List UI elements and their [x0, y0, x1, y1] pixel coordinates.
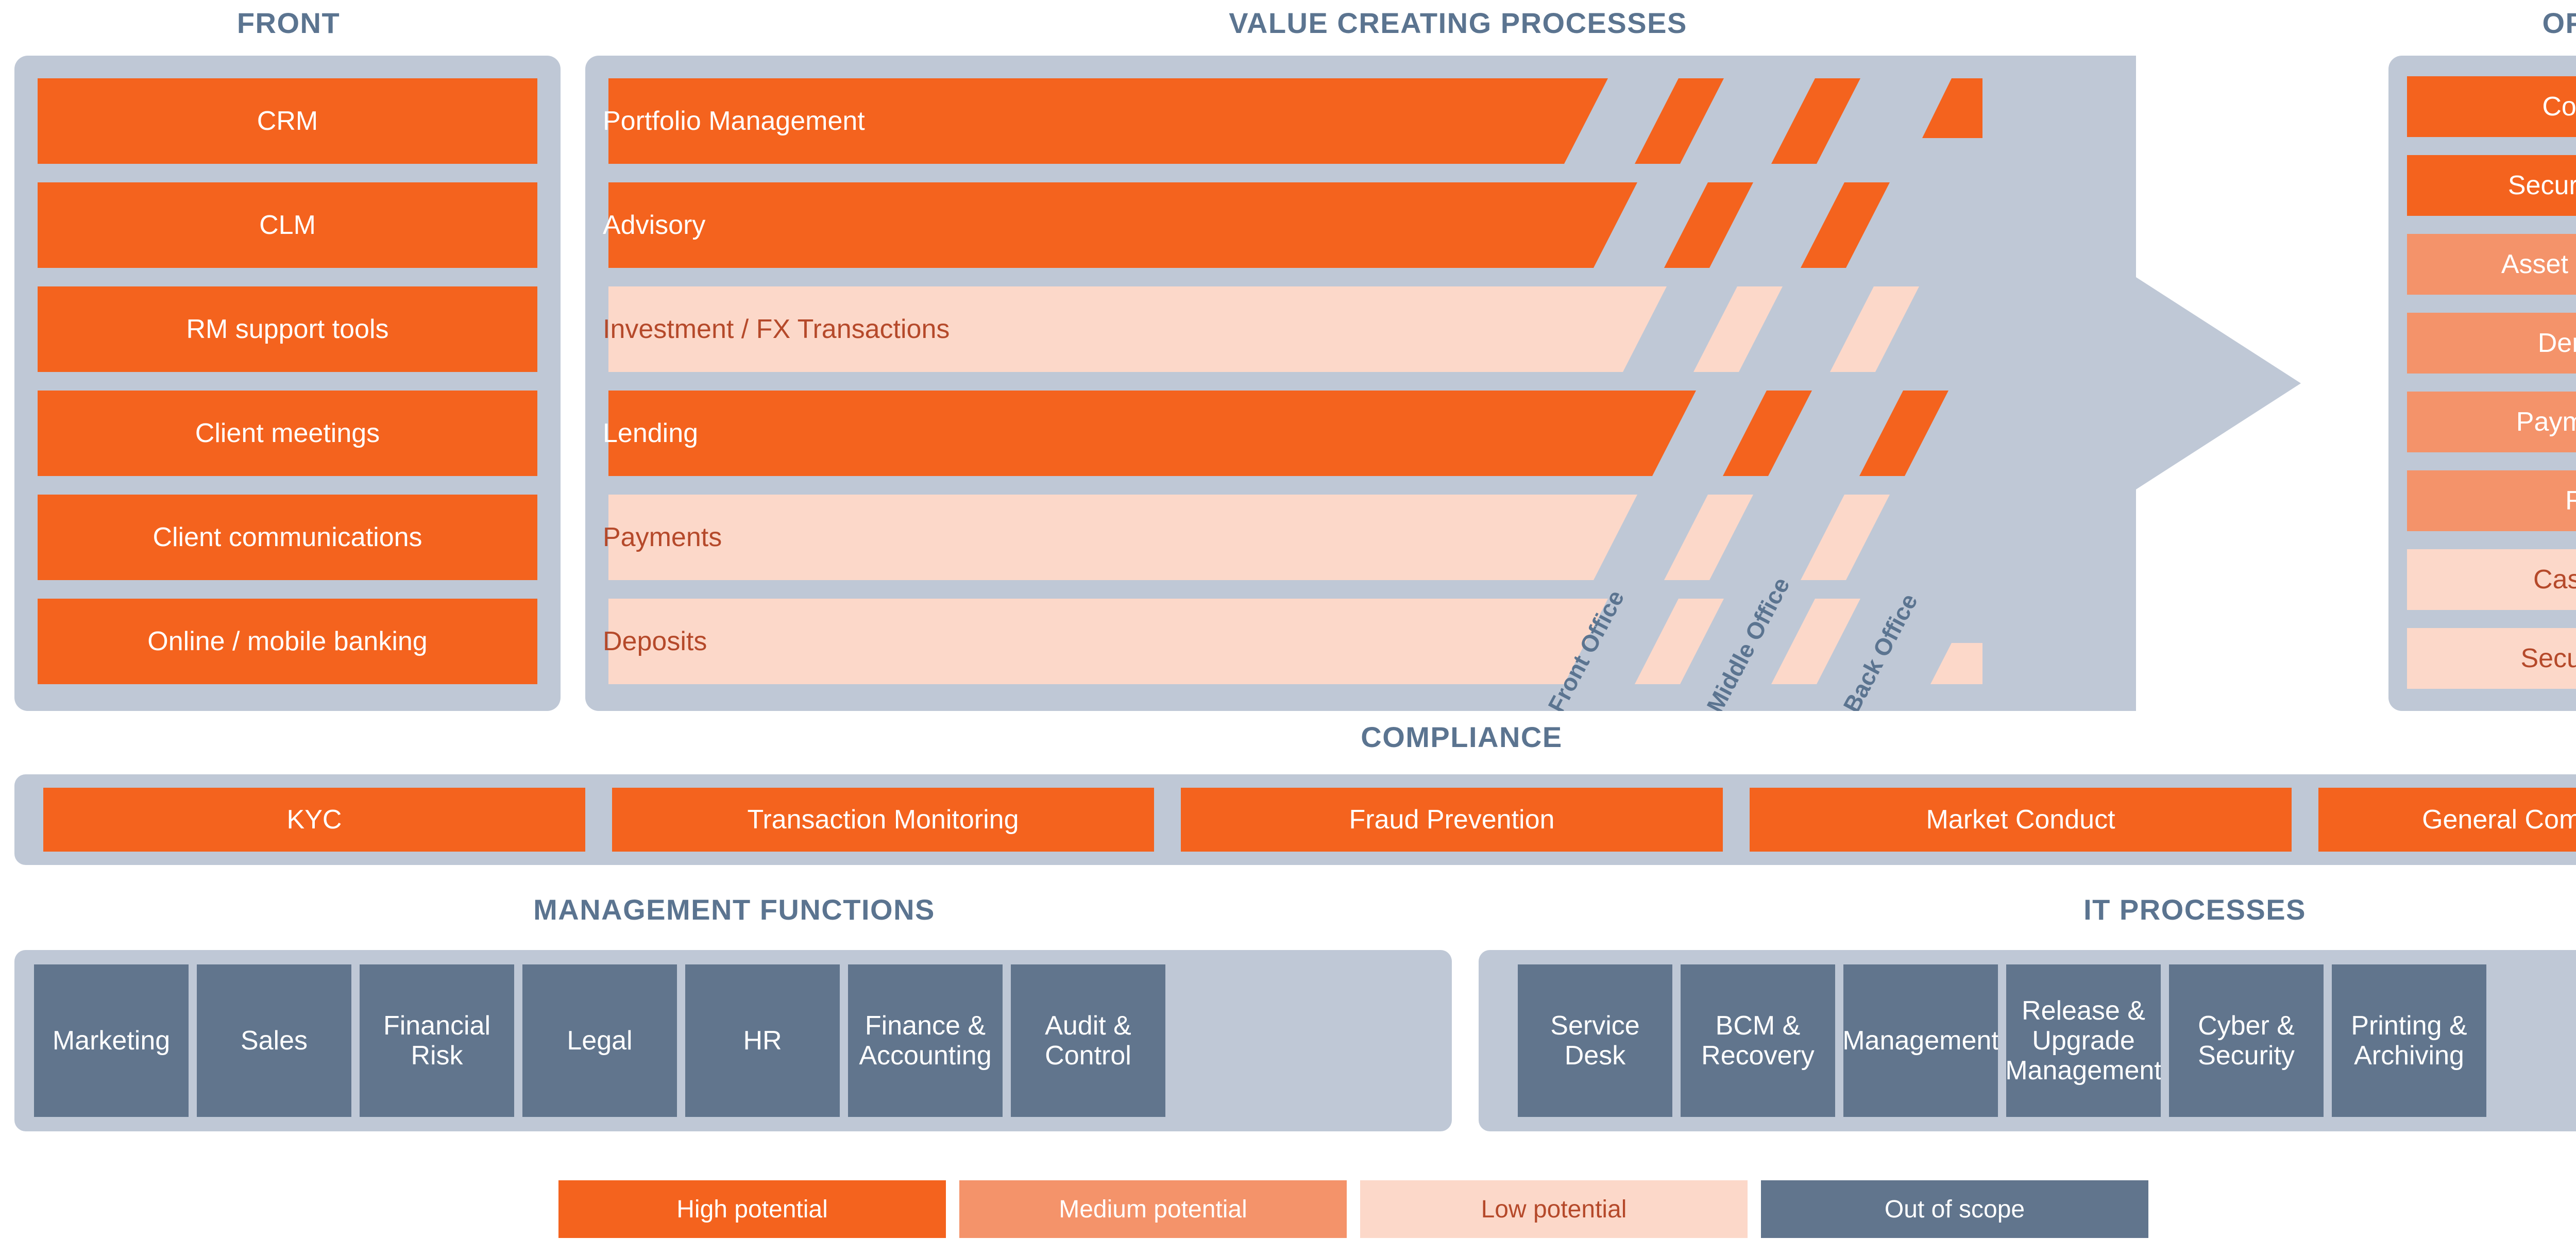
operations-tile-label: Derivatives & OTC — [2538, 328, 2576, 358]
management-functions-heading: MANAGEMENT FUNCTIONS — [15, 894, 1453, 926]
vcp-heading: VALUE CREATING PROCESSES — [587, 7, 2329, 39]
legend-item-label: Out of scope — [1885, 1195, 2025, 1224]
operations-tile-label: Corporate Actions — [2542, 92, 2576, 122]
operations-tile-label: Asset Data Management — [2501, 249, 2576, 279]
front-tile-client-communications[interactable]: Client communications — [38, 495, 537, 580]
it-tile-label: Service Desk — [1523, 1011, 1667, 1071]
front-tile-label: RM support tools — [186, 314, 388, 344]
it-tile-management[interactable]: Management — [1843, 964, 1998, 1117]
operations-tile-securities-management[interactable]: Securities Management — [2407, 155, 2576, 216]
legend-item-medium-potential[interactable]: Medium potential — [959, 1180, 1347, 1238]
management-functions-panel: Marketing Sales Financial Risk Legal HR … — [14, 950, 1452, 1131]
it-tile-label: Release & Upgrade Management — [2006, 996, 2161, 1086]
front-tile-rm-support-tools[interactable]: RM support tools — [38, 286, 537, 372]
vcp-tile-label: Lending — [603, 418, 698, 448]
vcp-tile-label: Payments — [603, 522, 722, 552]
operations-tile-label: Securities Operations — [2520, 643, 2576, 673]
operations-tile-payment-transactions[interactable]: Payment Transactions — [2407, 392, 2576, 452]
operations-tile-label: Cashier Operations — [2533, 565, 2576, 595]
vcp-tile-lending[interactable]: Lending — [585, 391, 1564, 476]
compliance-tile-label: KYC — [287, 805, 342, 835]
it-tile-bcm-recovery[interactable]: BCM & Recovery — [1681, 964, 1835, 1117]
it-tile-service-desk[interactable]: Service Desk — [1518, 964, 1672, 1117]
compliance-tile-label: Transaction Monitoring — [748, 805, 1019, 835]
compliance-tile-fraud-prevention[interactable]: Fraud Prevention — [1181, 788, 1723, 852]
front-tile-label: CRM — [257, 106, 318, 136]
legend-item-low-potential[interactable]: Low potential — [1360, 1180, 1748, 1238]
it-tile-label: Cyber & Security — [2174, 1011, 2318, 1071]
compliance-tile-label: General Compliance Services — [2422, 805, 2576, 835]
vcp-panel: Portfolio Management Advisory Investment… — [585, 56, 2388, 711]
it-tile-release-upgrade-management[interactable]: Release & Upgrade Management — [2006, 964, 2161, 1117]
compliance-heading: COMPLIANCE — [0, 721, 2576, 753]
front-heading: FRONT — [15, 7, 562, 39]
vcp-tile-deposits[interactable]: Deposits — [585, 599, 1564, 684]
compliance-tile-kyc[interactable]: KYC — [43, 788, 585, 852]
management-tile-label: Marketing — [53, 1026, 170, 1056]
compliance-tile-general-compliance-services[interactable]: General Compliance Services — [2318, 788, 2576, 852]
vcp-tile-portfolio-management[interactable]: Portfolio Management — [585, 78, 1564, 164]
process-landscape-diagram: FRONT VALUE CREATING PROCESSES OPERATION… — [0, 0, 2576, 1255]
operations-tile-asset-data-management[interactable]: Asset Data Management — [2407, 234, 2576, 295]
it-processes-heading: IT PROCESSES — [1479, 894, 2576, 926]
vcp-tile-investment-fx-transactions[interactable]: Investment / FX Transactions — [585, 286, 1564, 372]
it-tile-printing-archiving[interactable]: Printing & Archiving — [2332, 964, 2486, 1117]
compliance-tile-transaction-monitoring[interactable]: Transaction Monitoring — [612, 788, 1154, 852]
operations-tile-derivatives-otc[interactable]: Derivatives & OTC — [2407, 313, 2576, 374]
compliance-tile-market-conduct[interactable]: Market Conduct — [1750, 788, 2292, 852]
operations-tile-label: Payment Transactions — [2516, 407, 2576, 437]
management-tile-marketing[interactable]: Marketing — [34, 964, 189, 1117]
operations-tile-reconciliation[interactable]: Reconciliation — [2407, 470, 2576, 531]
operations-panel: Corporate Actions Securities Management … — [2388, 56, 2576, 711]
front-tile-label: Client communications — [152, 522, 422, 552]
legend-item-out-of-scope[interactable]: Out of scope — [1761, 1180, 2148, 1238]
it-tile-label: Management — [1843, 1026, 1998, 1056]
management-tile-audit-control[interactable]: Audit & Control — [1011, 964, 1165, 1117]
legend-item-label: Low potential — [1481, 1195, 1627, 1224]
compliance-tile-label: Market Conduct — [1926, 805, 2115, 835]
front-tile-online-mobile-banking[interactable]: Online / mobile banking — [38, 599, 537, 684]
management-tile-label: Sales — [241, 1026, 308, 1056]
legend-item-label: Medium potential — [1059, 1195, 1247, 1224]
management-tile-label: HR — [743, 1026, 782, 1056]
legend-item-label: High potential — [676, 1195, 828, 1224]
operations-tile-corporate-actions[interactable]: Corporate Actions — [2407, 76, 2576, 137]
front-tile-crm[interactable]: CRM — [38, 78, 537, 164]
front-tile-label: Client meetings — [195, 418, 380, 448]
vcp-tile-label: Investment / FX Transactions — [603, 314, 950, 344]
management-tile-finance-accounting[interactable]: Finance & Accounting — [848, 964, 1003, 1117]
front-tile-label: CLM — [259, 210, 316, 240]
management-tile-legal[interactable]: Legal — [522, 964, 677, 1117]
front-tile-label: Online / mobile banking — [147, 626, 427, 656]
it-processes-panel: Service Desk BCM & Recovery Management R… — [1479, 950, 2576, 1131]
vcp-tile-label: Portfolio Management — [603, 106, 865, 136]
front-tile-clm[interactable]: CLM — [38, 182, 537, 268]
management-tile-sales[interactable]: Sales — [197, 964, 351, 1117]
operations-tile-cashier-operations[interactable]: Cashier Operations — [2407, 549, 2576, 610]
operations-heading: OPERATIONS — [2370, 7, 2576, 39]
vcp-tile-advisory[interactable]: Advisory — [585, 182, 1564, 268]
it-tile-label: BCM & Recovery — [1686, 1011, 1830, 1071]
vcp-tile-label: Advisory — [603, 210, 705, 240]
operations-tile-securities-operations[interactable]: Securities Operations — [2407, 628, 2576, 689]
compliance-tile-label: Fraud Prevention — [1349, 805, 1555, 835]
management-tile-label: Finance & Accounting — [853, 1011, 997, 1071]
legend-item-high-potential[interactable]: High potential — [558, 1180, 946, 1238]
operations-tile-label: Securities Management — [2508, 171, 2576, 200]
management-tile-label: Audit & Control — [1016, 1011, 1160, 1071]
front-tile-client-meetings[interactable]: Client meetings — [38, 391, 537, 476]
vcp-tile-label: Deposits — [603, 626, 707, 656]
it-tile-label: Printing & Archiving — [2337, 1011, 2481, 1071]
management-tile-label: Legal — [567, 1026, 632, 1056]
management-tile-financial-risk[interactable]: Financial Risk — [360, 964, 514, 1117]
vcp-tile-payments[interactable]: Payments — [585, 495, 1564, 580]
it-tile-cyber-security[interactable]: Cyber & Security — [2169, 964, 2324, 1117]
operations-tile-label: Reconciliation — [2565, 486, 2576, 516]
compliance-panel: KYC Transaction Monitoring Fraud Prevent… — [14, 774, 2576, 865]
management-tile-label: Financial Risk — [365, 1011, 509, 1071]
management-tile-hr[interactable]: HR — [685, 964, 840, 1117]
front-panel: CRM CLM RM support tools Client meetings… — [14, 56, 561, 711]
